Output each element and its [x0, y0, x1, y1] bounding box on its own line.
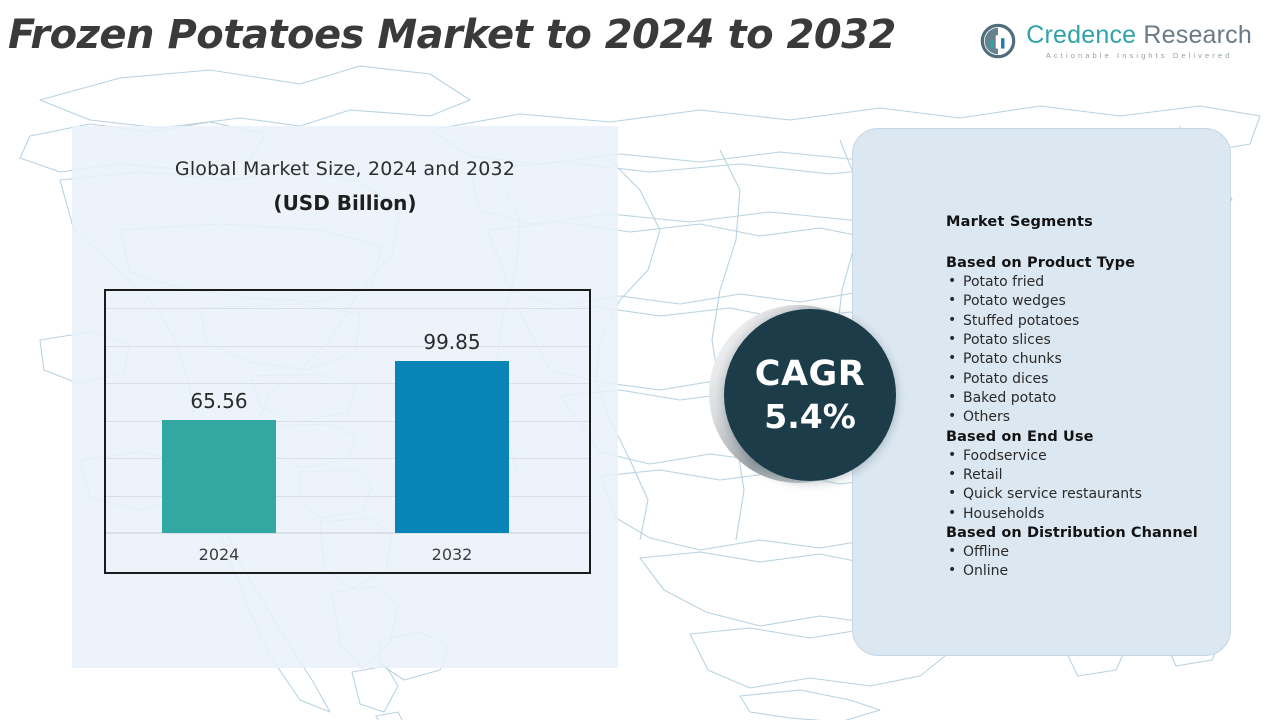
bar-category-label: 2024: [162, 545, 276, 564]
segment-group-title: Based on End Use: [946, 428, 1236, 447]
segment-item: Households: [946, 505, 1236, 524]
brand-name-part1: Credence: [1026, 21, 1136, 49]
bar-chart-circle-icon: [979, 22, 1017, 60]
bar-value-label: 65.56: [190, 389, 247, 413]
bar-category-label: 2032: [395, 545, 509, 564]
segment-list: OfflineOnline: [946, 543, 1236, 582]
market-segments-content: Market Segments Based on Product TypePot…: [946, 214, 1236, 582]
bar-2032: [395, 361, 509, 533]
bar-group: 65.56: [162, 389, 276, 533]
segment-group-title: Based on Product Type: [946, 254, 1236, 273]
segment-item: Potato slices: [946, 331, 1236, 350]
brand-logo: Credence Research Actionable Insights De…: [979, 22, 1252, 60]
page-title: Frozen Potatoes Market to 2024 to 2032: [8, 12, 896, 58]
segment-item: Stuffed potatoes: [946, 312, 1236, 331]
segment-item: Others: [946, 408, 1236, 427]
segment-item: Foodservice: [946, 447, 1236, 466]
bar-group: 99.85: [395, 330, 509, 533]
segment-item: Baked potato: [946, 389, 1236, 408]
chart-plot-area: 65.56202499.852032: [106, 291, 589, 572]
chart-subtitle: (USD Billion): [72, 191, 618, 215]
cagr-badge: CAGR 5.4%: [718, 309, 896, 487]
bar-chart: 65.56202499.852032: [104, 289, 591, 574]
segment-list: FoodserviceRetailQuick service restauran…: [946, 447, 1236, 524]
brand-name: Credence Research: [1026, 23, 1252, 48]
brand-name-part2: Research: [1136, 21, 1252, 49]
segment-group-title: Based on Distribution Channel: [946, 524, 1236, 543]
cagr-label: CAGR: [755, 357, 865, 392]
market-segments-heading: Market Segments: [946, 214, 1236, 230]
brand-text: Credence Research Actionable Insights De…: [1026, 23, 1252, 60]
segment-item: Quick service restaurants: [946, 485, 1236, 504]
segment-item: Offline: [946, 543, 1236, 562]
segment-list: Potato friedPotato wedgesStuffed potatoe…: [946, 273, 1236, 428]
bar-value-label: 99.85: [423, 330, 480, 354]
bar-2024: [162, 420, 276, 533]
cagr-value: 5.4%: [764, 400, 856, 433]
chart-title: Global Market Size, 2024 and 2032: [72, 158, 618, 180]
segment-item: Potato dices: [946, 370, 1236, 389]
segment-item: Online: [946, 562, 1236, 581]
segment-item: Retail: [946, 466, 1236, 485]
segment-item: Potato wedges: [946, 292, 1236, 311]
infographic-canvas: Frozen Potatoes Market to 2024 to 2032 C…: [0, 0, 1280, 720]
segment-item: Potato chunks: [946, 350, 1236, 369]
brand-tagline: Actionable Insights Delivered: [1026, 52, 1252, 60]
chart-header: Global Market Size, 2024 and 2032 (USD B…: [72, 126, 618, 215]
cagr-circle: CAGR 5.4%: [724, 309, 896, 481]
segment-item: Potato fried: [946, 273, 1236, 292]
segment-groups: Based on Product TypePotato friedPotato …: [946, 254, 1236, 582]
